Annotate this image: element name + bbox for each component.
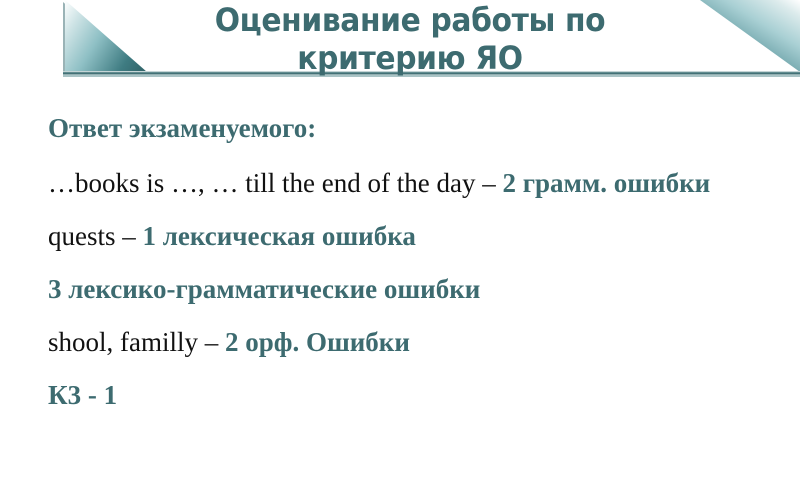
body-line-1: …books is …, … till the end of the day –…	[48, 167, 778, 200]
body-line-2-accent: 1 лексическая ошибка	[143, 221, 416, 251]
title-right-triangle-decoration	[700, 0, 800, 72]
body-line-5-accent: К3 - 1	[48, 380, 117, 410]
body-line-4-plain: shool, familly –	[48, 327, 225, 357]
body-line-5: К3 - 1	[48, 379, 778, 412]
slide-body: Ответ экзаменуемого: …books is …, … till…	[48, 112, 778, 432]
body-line-1-plain: …books is …, … till the end of the day –	[48, 168, 502, 198]
slide-title: Оценивание работы по критерию ЯО	[131, 2, 689, 78]
presentation-slide: Оценивание работы по критерию ЯО Ответ э…	[0, 0, 800, 500]
body-lead-line: Ответ экзаменуемого:	[48, 112, 778, 145]
body-line-4-accent: 2 орф. Ошибки	[225, 327, 410, 357]
body-line-4: shool, familly – 2 орф. Ошибки	[48, 326, 778, 359]
slide-title-band: Оценивание работы по критерию ЯО	[0, 0, 800, 80]
body-line-2: quests – 1 лексическая ошибка	[48, 220, 778, 253]
body-line-3-accent: 3 лексико-грамматические ошибки	[48, 274, 480, 304]
body-line-1-accent: 2 грамм. ошибки	[502, 168, 710, 198]
body-line-3: 3 лексико-грамматические ошибки	[48, 273, 778, 306]
body-line-2-plain: quests –	[48, 221, 143, 251]
